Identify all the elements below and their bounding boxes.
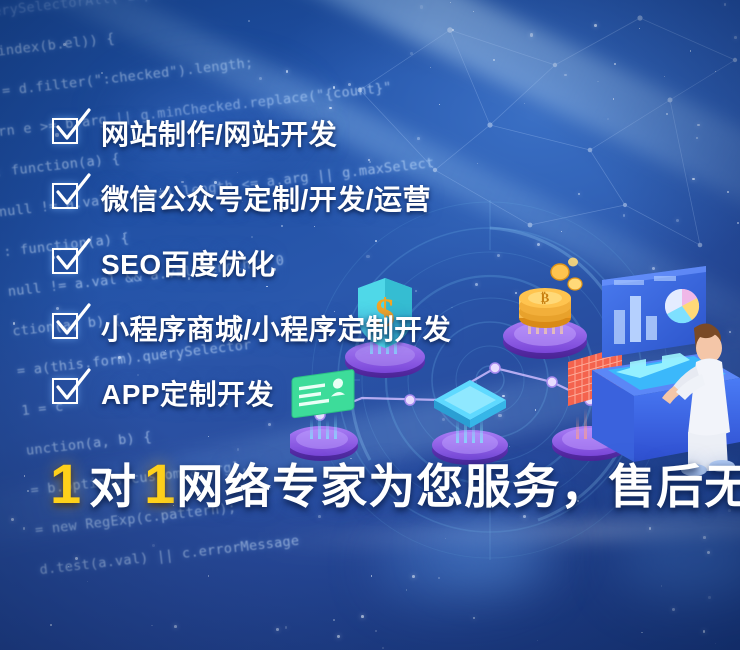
checklist-item-label: 微信公众号定制/开发/运营 xyxy=(101,178,431,218)
checklist-item-label: APP定制开发 xyxy=(101,373,274,413)
checklist-item-label: SEO百度优化 xyxy=(101,243,276,283)
checklist-item-wechat: 微信公众号定制/开发/运营 xyxy=(52,165,692,230)
checklist-item-website: 网站制作/网站开发 xyxy=(52,100,692,165)
headline-number-first: 1 xyxy=(50,452,82,515)
service-checklist: 网站制作/网站开发微信公众号定制/开发/运营SEO百度优化小程序商城/小程序定制… xyxy=(52,100,692,425)
checkbox-checked-icon xyxy=(52,378,82,408)
checklist-item-app: APP定制开发 xyxy=(52,360,692,425)
checklist-item-label: 网站制作/网站开发 xyxy=(101,113,337,153)
checkbox-checked-icon xyxy=(52,313,82,343)
promo-banner: querySelectorAll( input[type=checkbox]d.… xyxy=(0,0,740,650)
checkbox-checked-icon xyxy=(52,183,82,213)
headline-mid-char: 对 xyxy=(89,460,137,513)
headline-tail-text: 网络专家为您服务，售后无忧！ xyxy=(176,460,740,513)
checkbox-checked-icon xyxy=(52,118,82,148)
checklist-item-label: 小程序商城/小程序定制开发 xyxy=(101,308,451,348)
checklist-item-miniprogram: 小程序商城/小程序定制开发 xyxy=(52,295,692,360)
headline-number-second: 1 xyxy=(144,452,176,515)
checklist-item-seo: SEO百度优化 xyxy=(52,230,692,295)
headline-slogan: 1对1网络专家为您服务，售后无忧！ xyxy=(50,448,740,517)
checkbox-checked-icon xyxy=(52,248,82,278)
